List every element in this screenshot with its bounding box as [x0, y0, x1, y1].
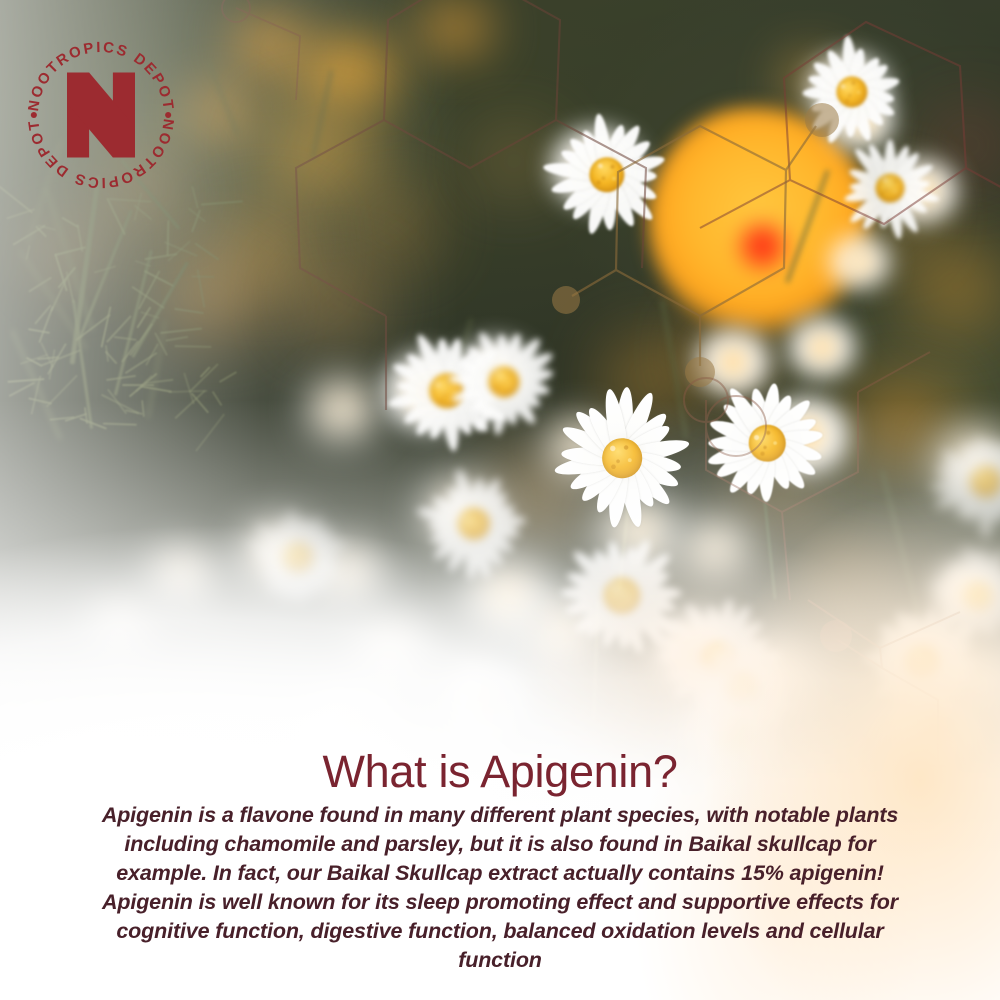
body-paragraph: Apigenin is a flavone found in many diff…: [86, 801, 914, 974]
poster-canvas: NOOTROPICS DEPOT NOOTROPICS DEPOT What i…: [0, 0, 1000, 1000]
logo-n-monogram: [67, 69, 135, 161]
text-content-block: What is Apigenin? Apigenin is a flavone …: [0, 748, 1000, 975]
nootropics-depot-logo[interactable]: NOOTROPICS DEPOT NOOTROPICS DEPOT: [16, 30, 186, 200]
logo-dot-left: [31, 112, 37, 118]
page-title: What is Apigenin?: [86, 748, 914, 795]
logo-dot-right: [165, 112, 171, 118]
